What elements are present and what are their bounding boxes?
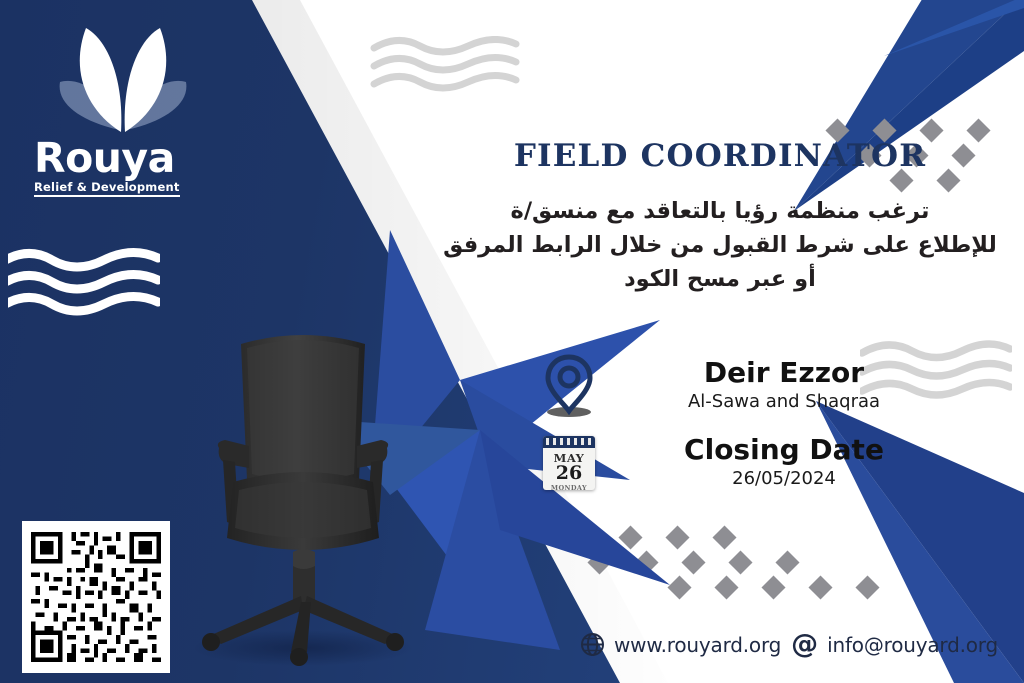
- calendar-weekday: MONDAY: [543, 484, 595, 490]
- butterfly-leaf-icon: [42, 18, 202, 136]
- location-text: Deir Ezzor Al-Sawa and Shaqraa: [608, 357, 1000, 414]
- location-pin-icon: [530, 352, 608, 418]
- website-item[interactable]: www.rouyard.org: [580, 632, 781, 657]
- footer-contact: www.rouyard.org @ info@rouyard.org: [580, 632, 980, 657]
- location-city: Deir Ezzor: [608, 357, 960, 389]
- calendar-day: 26: [543, 464, 595, 483]
- arabic-line-3: أو عبر مسح الكود: [440, 262, 1000, 296]
- arabic-description: ترغب منظمة رؤيا بالتعاقد مع منسق/ة للإطل…: [440, 194, 1000, 296]
- location-areas: Al-Sawa and Shaqraa: [608, 390, 960, 414]
- globe-icon: [580, 632, 605, 657]
- arabic-line-1: ترغب منظمة رؤيا بالتعاقد مع منسق/ة: [440, 194, 1000, 228]
- brand-logo: Rouya Relief & Development: [28, 18, 218, 198]
- closing-date-value: 26/05/2024: [608, 467, 960, 491]
- brand-tagline: Relief & Development: [34, 180, 180, 197]
- arabic-line-2: للإطلاع على شرط القبول من خلال الرابط ال…: [440, 228, 1000, 262]
- website-url: www.rouyard.org: [614, 633, 781, 657]
- job-title: FIELD COORDINATOR: [440, 138, 1000, 174]
- info-block: Deir Ezzor Al-Sawa and Shaqraa MAY 26 MO…: [530, 352, 1000, 491]
- closing-date-label: Closing Date: [608, 434, 960, 466]
- job-poster: Rouya Relief & Development: [0, 0, 1024, 683]
- brand-name: Rouya: [34, 138, 214, 178]
- wave-lines-left-icon: [8, 246, 160, 318]
- at-sign-icon: @: [791, 634, 818, 656]
- email-address: info@rouyard.org: [827, 633, 998, 657]
- content-column: FIELD COORDINATOR ترغب منظمة رؤيا بالتعا…: [440, 0, 1024, 683]
- qr-code[interactable]: [22, 521, 170, 673]
- location-row: Deir Ezzor Al-Sawa and Shaqraa: [530, 352, 1000, 418]
- closing-date-row: MAY 26 MONDAY Closing Date 26/05/2024: [530, 434, 1000, 491]
- calendar-binding: [543, 436, 595, 448]
- closing-date-text: Closing Date 26/05/2024: [608, 434, 1000, 491]
- calendar-icon: MAY 26 MONDAY: [530, 436, 608, 490]
- office-chair-icon: [183, 330, 423, 670]
- email-item[interactable]: @ info@rouyard.org: [791, 633, 998, 657]
